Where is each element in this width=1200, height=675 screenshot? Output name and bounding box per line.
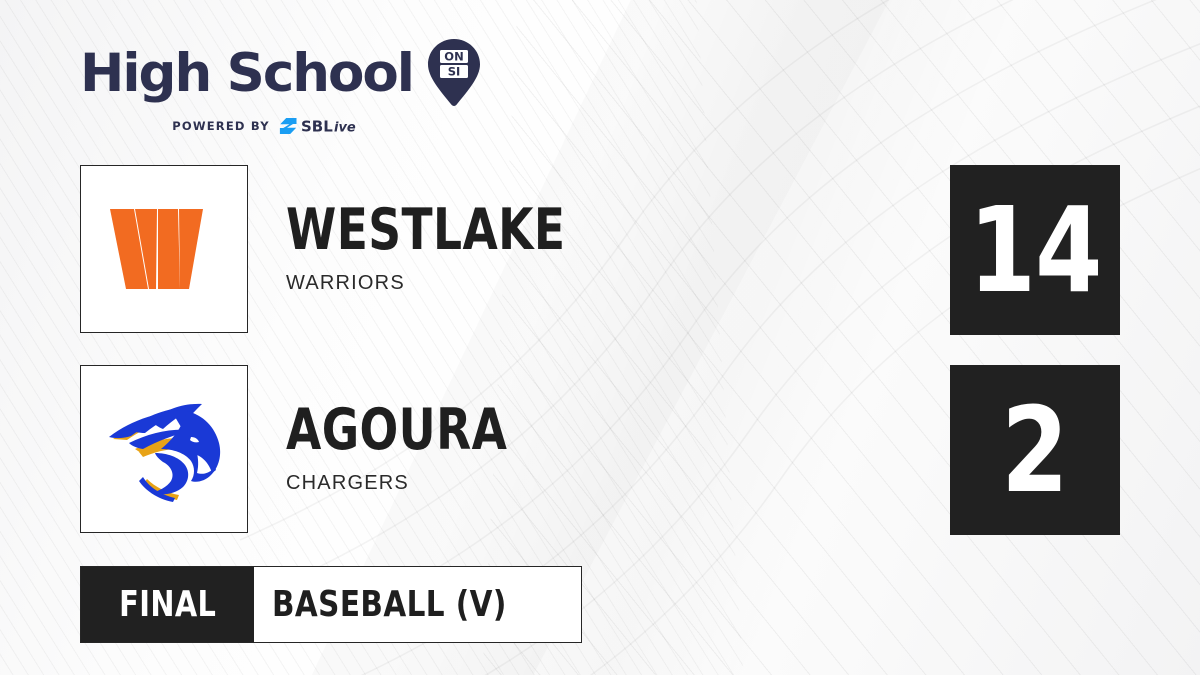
team-logo-box-2: [80, 365, 248, 533]
sblive-logo: SBL ive: [279, 117, 373, 135]
status-state-label: FINAL: [119, 584, 216, 625]
scoreboard-graphic: High School ON SI POWERED BY SBL ive: [0, 0, 1200, 675]
status-state-block: FINAL: [81, 567, 254, 642]
team-info-2: AGOURA CHARGERS: [286, 365, 563, 533]
status-sport-label: BASEBALL (V): [272, 584, 507, 625]
game-status-bar: FINAL BASEBALL (V): [80, 566, 582, 643]
score-value-2: 2: [1002, 391, 1069, 509]
team-name-2: AGOURA: [286, 403, 507, 458]
westlake-w-logo-icon: [108, 203, 220, 295]
sblive-lightning-icon: [279, 117, 298, 135]
status-sport-block: BASEBALL (V): [254, 567, 580, 642]
pin-text-on: ON: [444, 50, 463, 64]
sblive-wordmark-italic: ive: [334, 121, 356, 136]
brand-logo-row: High School ON SI: [80, 38, 520, 108]
score-box-1: 14: [950, 165, 1120, 335]
team-mascot-2: CHARGERS: [286, 472, 563, 495]
score-value-1: 14: [968, 191, 1101, 309]
brand-wordmark: High School: [80, 47, 413, 100]
powered-by-row: POWERED BY SBL ive: [80, 117, 520, 135]
team-name-1: WESTLAKE: [286, 203, 565, 258]
team-logo-box-1: [80, 165, 248, 333]
score-box-2: 2: [950, 365, 1120, 535]
agoura-charger-horse-logo-icon: [99, 393, 229, 505]
on-si-pin-icon: ON SI: [425, 38, 483, 108]
powered-by-label: POWERED BY: [172, 119, 269, 133]
sblive-wordmark-icon: SBL ive: [301, 117, 373, 135]
brand-header: High School ON SI POWERED BY SBL ive: [80, 38, 520, 135]
pin-text-si: SI: [448, 65, 461, 79]
team-info-1: WESTLAKE WARRIORS: [286, 165, 635, 333]
sblive-wordmark-bold: SBL: [301, 118, 333, 136]
team-mascot-1: WARRIORS: [286, 272, 635, 295]
